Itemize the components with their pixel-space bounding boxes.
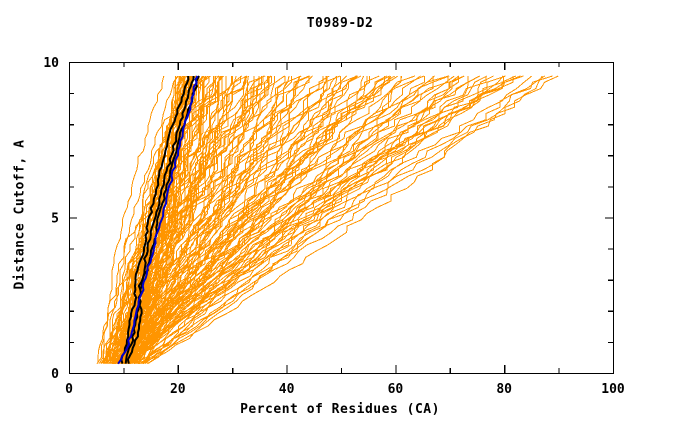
- x-tick-label: 40: [279, 382, 295, 397]
- bulk-prediction-curves: [97, 76, 558, 364]
- y-tick-label: 10: [43, 56, 59, 71]
- y-tick-label: 5: [51, 212, 59, 227]
- chart-root: T0989-D2 Distance Cutoff, A Percent of R…: [0, 0, 680, 440]
- x-tick-label: 20: [170, 382, 186, 397]
- y-tick-label: 0: [51, 367, 59, 382]
- plot-canvas: 0204060801000510: [0, 0, 680, 440]
- x-tick-label: 60: [388, 382, 404, 397]
- x-tick-label: 80: [496, 382, 512, 397]
- x-tick-label: 100: [601, 382, 625, 397]
- x-tick-label: 0: [65, 382, 73, 397]
